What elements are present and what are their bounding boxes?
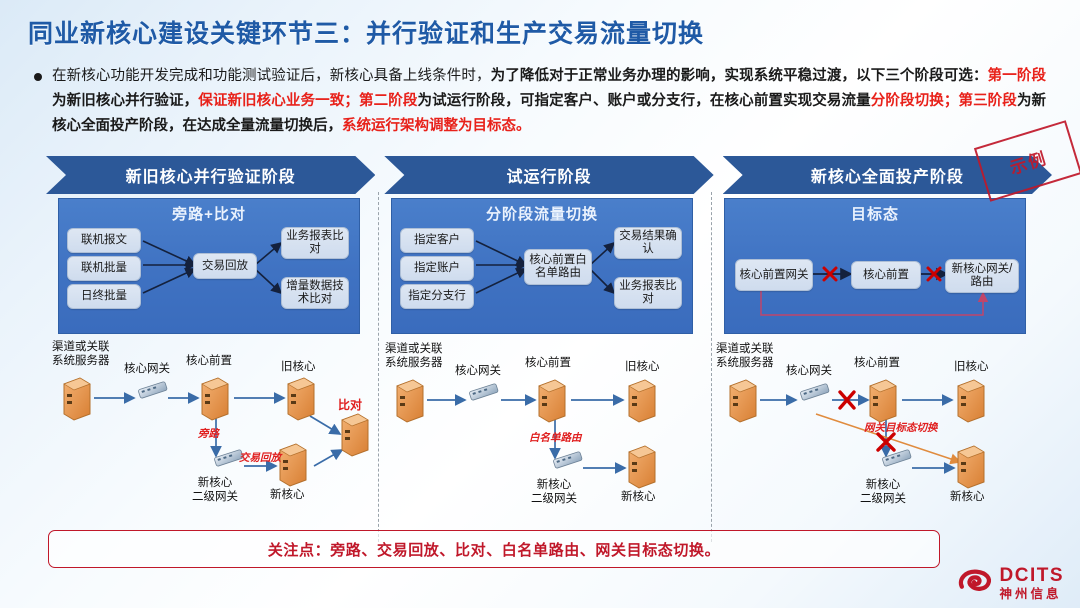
diagram-annot-replay-1: 交易回放 — [239, 450, 281, 465]
logo-en: DCITS — [1000, 566, 1065, 585]
bullet-seg-6: 保证新旧核心业务一致； — [198, 93, 359, 109]
concept-middle-2[interactable]: 核心前置白名单路由 — [524, 249, 592, 285]
src-line1-3: 渠道或关联 — [716, 343, 774, 355]
diagram-label-newcore-1: 新核心 — [270, 488, 305, 502]
diagram-label-gateway-2: 核心网关 — [455, 364, 501, 378]
footer-note-box: 关注点：旁路、交易回放、比对、白名单路由、网关目标态切换。 — [48, 530, 940, 568]
bullet-seg-12: 系统运行架构调整为目标态。 — [342, 118, 531, 134]
server-diagram-3: 渠道或关联系统服务器 核心网关 核心前置 旧核心 新核心二级网关 新核心 网关目… — [712, 338, 1045, 528]
server-diagram-2: 渠道或关联系统服务器 核心网关 核心前置 旧核心 新核心二级网关 新核心 白名单… — [379, 338, 712, 528]
concept-title-2: 分阶段流量切换 — [392, 203, 692, 224]
concept-box-3-2[interactable]: 核心前置 — [851, 261, 921, 289]
diagram-annot-bypass-1: 旁路 — [198, 426, 219, 441]
bullet-text: 在新核心功能开发完成和功能测试验证后，新核心具备上线条件时，为了降低对于正常业务… — [52, 64, 1046, 139]
concept-input-1-2[interactable]: 联机批量 — [67, 256, 141, 281]
diagram-label-newgw-3: 新核心二级网关 — [860, 478, 906, 506]
bullet-dot-icon — [34, 73, 42, 81]
concept-input-1-1[interactable]: 联机报文 — [67, 228, 141, 253]
phase-columns: 旁路+比对 联机报文 联机批量 日终批量 交易回放 业务报表比对 增量数据技术比… — [46, 198, 1052, 528]
dcits-swoosh-icon — [956, 568, 994, 598]
concept-box-3-3[interactable]: 新核心网关/路由 — [945, 259, 1019, 293]
concept-box-1: 旁路+比对 联机报文 联机批量 日终批量 交易回放 业务报表比对 增量数据技术比… — [58, 198, 360, 334]
concept-output-2-1[interactable]: 交易结果确认 — [614, 227, 682, 259]
diagram-label-source-3: 渠道或关联系统服务器 — [716, 342, 774, 370]
logo-cn: 神州信息 — [1000, 588, 1065, 601]
concept-output-1-1[interactable]: 业务报表比对 — [281, 227, 349, 259]
column-phase-3: 目标态 核心前置网关 核心前置 新核心网关/路由 — [712, 198, 1045, 528]
bullet-seg-8: 为试运行阶段，可指定客户、账户或分支行，在核心前置实现交易流量 — [418, 93, 871, 109]
diagram-label-newcore-2: 新核心 — [621, 490, 656, 504]
bullet-seg-10: 第三阶段 — [958, 93, 1017, 109]
brand-logo: DCITS 神州信息 — [956, 566, 1065, 601]
bullet-seg-7: 第二阶段 — [359, 93, 418, 109]
diagram-label-newgw-2: 新核心二级网关 — [531, 478, 577, 506]
phase-banner-2[interactable]: 试运行阶段 — [384, 156, 713, 194]
phase-banner-1[interactable]: 新旧核心并行验证阶段 — [46, 156, 375, 194]
title-text: 同业新核心建设关键环节三：并行验证和生产交易流量切换 — [28, 14, 704, 50]
newgw-line1-1: 新核心 — [198, 477, 233, 489]
bullet-seg-4: 第一阶段 — [988, 68, 1046, 84]
diagram-label-source-2: 渠道或关联系统服务器 — [385, 342, 443, 370]
bullet-seg-2: 为了降低对于正常业务办理的影响，实现系统平稳过渡， — [491, 68, 856, 84]
concept-middle-1[interactable]: 交易回放 — [193, 253, 257, 279]
concept-input-2-2[interactable]: 指定账户 — [400, 256, 474, 281]
server-diagram-1: 渠道或关联系统服务器 核心网关 核心前置 旧核心 新核心二级网关 新核心 旁路 … — [46, 338, 379, 528]
concept-input-2-1[interactable]: 指定客户 — [400, 228, 474, 253]
src-line2-2: 系统服务器 — [385, 357, 443, 369]
bullet-seg-3: 以下三个阶段可选： — [856, 68, 988, 84]
src-line1-1: 渠道或关联 — [52, 341, 110, 353]
diagram-label-newcore-3: 新核心 — [950, 490, 985, 504]
column-phase-1: 旁路+比对 联机报文 联机批量 日终批量 交易回放 业务报表比对 增量数据技术比… — [46, 198, 379, 528]
newgw-line2-3: 二级网关 — [860, 493, 906, 505]
concept-output-1-2[interactable]: 增量数据技术比对 — [281, 277, 349, 309]
concept-title-1: 旁路+比对 — [59, 203, 359, 224]
src-line2-3: 系统服务器 — [716, 357, 774, 369]
footer-note-text: 关注点：旁路、交易回放、比对、白名单路由、网关目标态切换。 — [268, 539, 720, 560]
phase-banner-row: 新旧核心并行验证阶段 试运行阶段 新核心全面投产阶段 — [46, 156, 1052, 194]
newgw-line1-2: 新核心 — [537, 479, 572, 491]
src-line1-2: 渠道或关联 — [385, 343, 443, 355]
page-title: 同业新核心建设关键环节三：并行验证和生产交易流量切换 — [28, 14, 704, 50]
diagram-label-frontend-2: 核心前置 — [525, 356, 571, 370]
column-phase-2: 分阶段流量切换 指定客户 指定账户 指定分支行 核心前置白名单路由 交易结果确认… — [379, 198, 712, 528]
newgw-line1-3: 新核心 — [866, 479, 901, 491]
concept-input-2-3[interactable]: 指定分支行 — [400, 284, 474, 309]
diagram-label-oldcore-2: 旧核心 — [625, 360, 660, 374]
diagram-label-gateway-1: 核心网关 — [124, 362, 170, 376]
diagram-annot-compare-1: 比对 — [338, 396, 362, 413]
bullet-seg-9: 分阶段切换； — [871, 93, 959, 109]
diagram-label-gateway-3: 核心网关 — [786, 364, 832, 378]
bullet-seg-5: 为新旧核心并行验证， — [52, 93, 198, 109]
diagram-label-frontend-3: 核心前置 — [854, 356, 900, 370]
slide-root: 同业新核心建设关键环节三：并行验证和生产交易流量切换 在新核心功能开发完成和功能… — [0, 0, 1080, 608]
diagram-label-newgw-1: 新核心二级网关 — [192, 476, 238, 504]
concept-box-3-1[interactable]: 核心前置网关 — [735, 259, 813, 291]
newgw-line2-1: 二级网关 — [192, 491, 238, 503]
diagram-label-source-1: 渠道或关联系统服务器 — [52, 340, 110, 368]
diagram-annot-whitelist-2: 白名单路由 — [529, 430, 582, 445]
bullet-paragraph: 在新核心功能开发完成和功能测试验证后，新核心具备上线条件时，为了降低对于正常业务… — [34, 64, 1046, 139]
bullet-seg-1: 在新核心功能开发完成和功能测试验证后，新核心具备上线条件时， — [52, 68, 491, 84]
diagram-label-oldcore-3: 旧核心 — [954, 360, 989, 374]
diagram-label-frontend-1: 核心前置 — [186, 354, 232, 368]
diagram-label-oldcore-1: 旧核心 — [281, 360, 316, 374]
concept-input-1-3[interactable]: 日终批量 — [67, 284, 141, 309]
logo-text-block: DCITS 神州信息 — [1000, 566, 1065, 601]
diagram-annot-gwswitch-3: 网关目标态切换 — [864, 420, 938, 435]
src-line2-1: 系统服务器 — [52, 355, 110, 367]
concept-title-3: 目标态 — [725, 203, 1025, 224]
concept-box-2: 分阶段流量切换 指定客户 指定账户 指定分支行 核心前置白名单路由 交易结果确认… — [391, 198, 693, 334]
concept-box-3: 目标态 核心前置网关 核心前置 新核心网关/路由 — [724, 198, 1026, 334]
newgw-line2-2: 二级网关 — [531, 493, 577, 505]
concept-output-2-2[interactable]: 业务报表比对 — [614, 277, 682, 309]
